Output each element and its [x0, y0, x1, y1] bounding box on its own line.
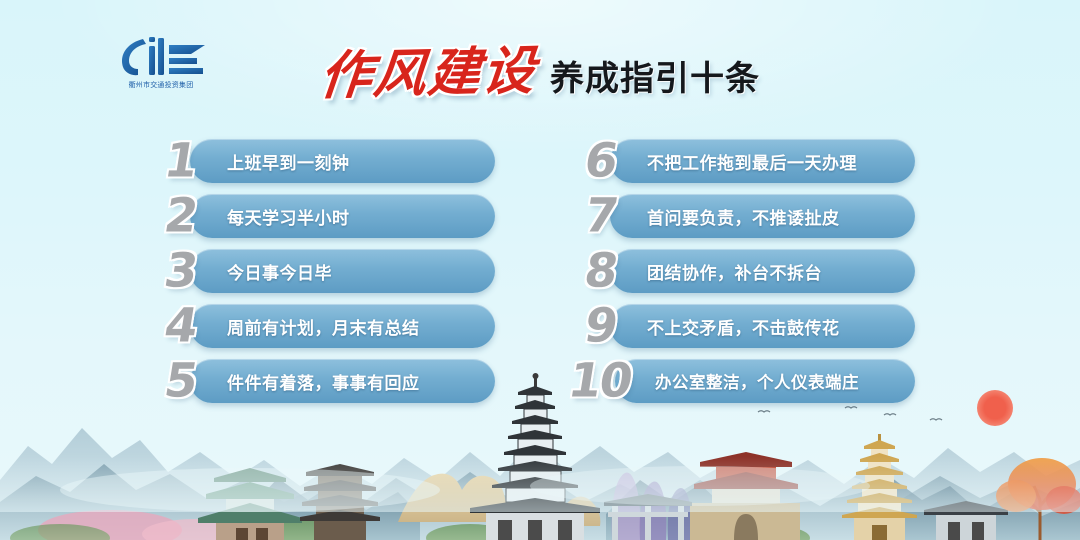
- guideline-text: 办公室整洁，个人仪表端庄: [655, 359, 859, 403]
- poster-root: 衢州市交通投资集团 作风建设 养成指引十条 1 上班早到一刻钟 2 每天学习半小…: [0, 0, 1080, 540]
- guideline-text: 上班早到一刻钟: [227, 139, 350, 183]
- guideline-item-6[interactable]: 6 不把工作拖到最后一天办理: [585, 139, 915, 183]
- guideline-item-7[interactable]: 7 首问要负责，不推诿扯皮: [585, 194, 915, 238]
- guideline-text: 不上交矛盾，不击鼓传花: [647, 304, 840, 348]
- guideline-item-8[interactable]: 8 团结协作，补台不拆台: [585, 249, 915, 293]
- mist-right: [530, 466, 870, 506]
- guideline-item-4[interactable]: 4 周前有计划，月末有总结: [165, 304, 495, 348]
- title-highlight: 作风建设: [317, 45, 539, 105]
- guideline-number: 2: [161, 193, 199, 240]
- guideline-number: 8: [581, 248, 619, 295]
- guideline-text: 件件有着落，事事有回应: [227, 359, 420, 403]
- guideline-number: 7: [581, 193, 619, 240]
- guideline-item-2[interactable]: 2 每天学习半小时: [165, 194, 495, 238]
- guideline-text: 首问要负责，不推诿扯皮: [647, 194, 840, 238]
- guideline-item-9[interactable]: 9 不上交矛盾，不击鼓传花: [585, 304, 915, 348]
- guideline-item-10[interactable]: 10 办公室整洁，个人仪表端庄: [585, 359, 915, 403]
- guideline-text: 周前有计划，月末有总结: [227, 304, 420, 348]
- guideline-item-3[interactable]: 3 今日事今日毕: [165, 249, 495, 293]
- guideline-number: 9: [581, 303, 619, 350]
- guideline-number: 6: [581, 138, 619, 185]
- mist-left: [60, 468, 440, 512]
- logo-caption: 衢州市交通投资集团: [113, 80, 209, 90]
- guideline-number: 10: [565, 358, 634, 405]
- landscape-illustration: [0, 360, 1080, 540]
- guideline-text: 今日事今日毕: [227, 249, 332, 293]
- guidelines-left-column: 1 上班早到一刻钟 2 每天学习半小时 3 今日事今日毕 4 周前有计划，月末有…: [165, 139, 495, 411]
- guideline-number: 3: [161, 248, 199, 295]
- guideline-item-1[interactable]: 1 上班早到一刻钟: [165, 139, 495, 183]
- guideline-number: 4: [161, 303, 199, 350]
- guideline-text: 团结协作，补台不拆台: [647, 249, 822, 293]
- logo-mark-icon: [113, 33, 209, 79]
- guideline-number: 1: [161, 138, 199, 185]
- sun-icon: [977, 390, 1013, 426]
- guidelines-right-column: 6 不把工作拖到最后一天办理 7 首问要负责，不推诿扯皮 8 团结协作，补台不拆…: [585, 139, 915, 411]
- company-logo: 衢州市交通投资集团: [113, 33, 209, 99]
- guideline-item-5[interactable]: 5 件件有着落，事事有回应: [165, 359, 495, 403]
- guideline-text: 每天学习半小时: [227, 194, 350, 238]
- title-rest: 养成指引十条: [550, 62, 760, 102]
- guideline-text: 不把工作拖到最后一天办理: [647, 139, 857, 183]
